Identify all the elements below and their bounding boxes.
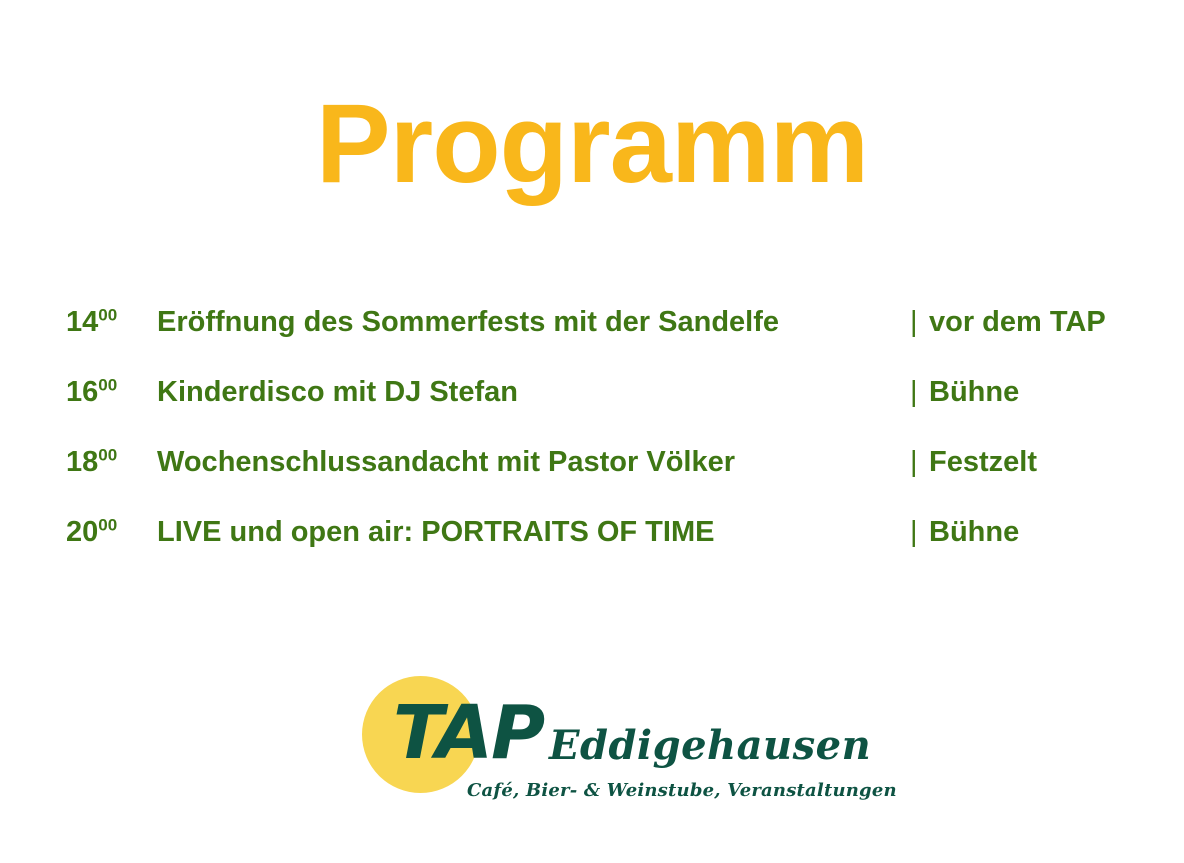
schedule-row: 1400 Eröffnung des Sommerfests mit der S… (66, 306, 1141, 376)
schedule-place: vor dem TAP (929, 306, 1141, 339)
schedule-time-minutes: 00 (98, 375, 117, 394)
schedule-time-hour: 18 (66, 446, 98, 478)
schedule-time-hour: 16 (66, 376, 98, 408)
schedule-place: Bühne (929, 516, 1141, 549)
schedule-event: LIVE und open air: PORTRAITS OF TIME (157, 516, 910, 549)
schedule-separator: | (910, 446, 929, 479)
schedule-time-hour: 14 (66, 306, 98, 338)
schedule-time: 2000 (66, 516, 157, 549)
schedule-list: 1400 Eröffnung des Sommerfests mit der S… (66, 306, 1141, 586)
schedule-time-minutes: 00 (98, 445, 117, 464)
schedule-event: Eröffnung des Sommerfests mit der Sandel… (157, 306, 910, 339)
schedule-separator: | (910, 516, 929, 549)
schedule-row: 2000 LIVE und open air: PORTRAITS OF TIM… (66, 516, 1141, 586)
schedule-row: 1600 Kinderdisco mit DJ Stefan | Bühne (66, 376, 1141, 446)
schedule-separator: | (910, 376, 929, 409)
logo-place-name: Eddigehausen (549, 726, 871, 766)
logo-tagline: Café, Bier- & Weinstube, Veranstaltungen (467, 782, 897, 800)
schedule-time-minutes: 00 (98, 305, 117, 324)
schedule-time: 1600 (66, 376, 157, 409)
schedule-time: 1800 (66, 446, 157, 479)
schedule-time-minutes: 00 (98, 515, 117, 534)
schedule-event: Kinderdisco mit DJ Stefan (157, 376, 910, 409)
schedule-row: 1800 Wochenschlussandacht mit Pastor Völ… (66, 446, 1141, 516)
logo-wordmark: TAP (393, 696, 543, 770)
page-title: Programm (0, 88, 1184, 200)
schedule-event: Wochenschlussandacht mit Pastor Völker (157, 446, 910, 479)
tap-logo: TAP Eddigehausen Café, Bier- & Weinstube… (355, 668, 835, 818)
schedule-place: Bühne (929, 376, 1141, 409)
schedule-separator: | (910, 306, 929, 339)
schedule-time-hour: 20 (66, 516, 98, 548)
schedule-place: Festzelt (929, 446, 1141, 479)
program-poster: Programm 1400 Eröffnung des Sommerfests … (0, 0, 1184, 863)
schedule-time: 1400 (66, 306, 157, 339)
